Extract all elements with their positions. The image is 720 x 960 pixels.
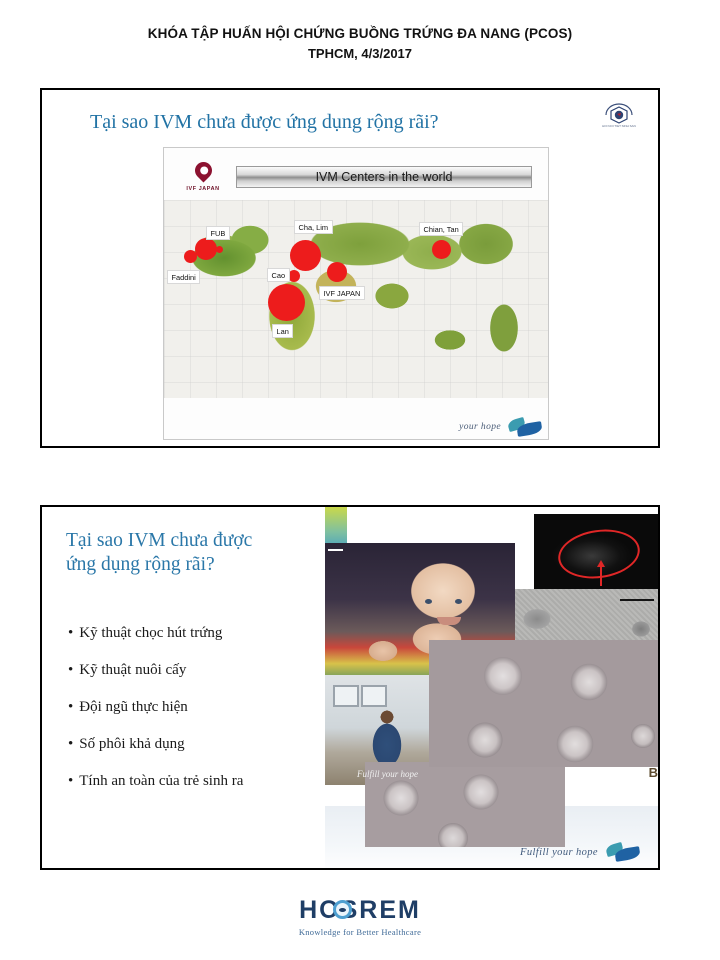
bullet-item: •Kỹ thuật nuôi cấy	[68, 662, 348, 679]
scale-bar-icon	[620, 599, 654, 601]
bullet-item: •Đội ngũ thực hiện	[68, 699, 348, 716]
bullet-label: Tính an toàn của trẻ sinh ra	[79, 773, 243, 789]
map-marker-label: FUB	[206, 226, 230, 240]
embryo-dish-photo	[429, 640, 660, 767]
map-footer: your hope	[459, 419, 542, 435]
bullet-item: •Tính an toàn của trẻ sinh ra	[68, 773, 348, 790]
hosrem-ring-icon	[333, 900, 352, 919]
slide-1-title: Tại sao IVM chưa được ứng dụng rộng rãi?	[90, 110, 439, 134]
bullet-glyph: •	[68, 699, 73, 715]
map-marker-label: Cha, Lim	[294, 220, 333, 234]
panel-label-b: B	[649, 765, 658, 780]
image-collage: C B Fulfill your hope Fulfill your hope	[325, 507, 660, 870]
hexagon-badge-icon: HOI NOI TIET SINH SAN	[602, 102, 636, 128]
slide-2-title-line-2: ứng dụng rộng rãi?	[66, 553, 326, 577]
page-header-subtitle: TPHCM, 4/3/2017	[0, 46, 720, 61]
ivf-japan-logo: IVF JAPAN	[180, 162, 226, 192]
map-marker-label: Faddini	[167, 270, 200, 284]
map-banner-title: IVM Centers in the world	[316, 170, 453, 184]
map-marker-label: Chian, Tan	[419, 222, 463, 236]
map-pin-icon	[191, 158, 215, 182]
page-header-title: KHÓA TẬP HUẤN HỘI CHỨNG BUỒNG TRỨNG ĐA N…	[0, 26, 720, 41]
bullet-label: Đội ngũ thực hiện	[79, 699, 188, 715]
fulfill-your-hope-text: Fulfill your hope	[520, 847, 598, 858]
bullet-item: •Kỹ thuật chọc hút trứng	[68, 625, 348, 642]
bullet-glyph: •	[68, 662, 73, 678]
world-map-image: FUBFaddiniCha, LimCaoIVF JAPANLanChian, …	[164, 200, 549, 398]
collage-footer: Fulfill your hope	[520, 844, 640, 860]
ultrasound-highlight-ellipse	[555, 525, 643, 584]
ovary-ultrasound-image	[534, 514, 660, 596]
slide-2-title: Tại sao IVM chưa được ứng dụng rộng rãi?	[66, 529, 326, 577]
embryo-micrograph	[515, 589, 660, 644]
map-marker-dot	[327, 262, 347, 282]
bullet-label: Kỹ thuật nuôi cấy	[79, 662, 186, 678]
hosrem-logo: HOSREM	[299, 898, 421, 923]
map-marker-label: Lan	[272, 324, 293, 338]
your-hope-text: your hope	[459, 422, 501, 432]
leaf-swoosh-icon	[508, 419, 542, 435]
collage-watermark: Fulfill your hope	[357, 769, 418, 779]
page-header: KHÓA TẬP HUẤN HỘI CHỨNG BUỒNG TRỨNG ĐA N…	[0, 26, 720, 61]
map-marker-label: IVF JAPAN	[319, 286, 365, 300]
map-marker-dot	[216, 246, 223, 253]
page-footer: HOSREM Knowledge for Better Healthcare	[0, 898, 720, 937]
ivm-centers-map-panel: IVF JAPAN IVM Centers in the world FUBFa…	[163, 147, 549, 440]
bullet-glyph: •	[68, 773, 73, 789]
hosrem-logo-text: HOSREM	[299, 896, 421, 924]
bullet-glyph: •	[68, 625, 73, 641]
slide-1: Tại sao IVM chưa được ứng dụng rộng rãi?…	[40, 88, 660, 448]
ultrasound-arrow-icon	[600, 566, 602, 586]
leaf-swoosh-icon	[606, 844, 640, 860]
ivf-japan-caption: IVF JAPAN	[180, 186, 226, 192]
map-marker-dot	[184, 250, 197, 263]
bullet-label: Kỹ thuật chọc hút trứng	[79, 625, 222, 641]
slide-2: Tại sao IVM chưa được ứng dụng rộng rãi?…	[40, 505, 660, 870]
bullet-label: Số phôi khả dụng	[79, 736, 184, 752]
map-marker-dot	[288, 270, 300, 282]
map-marker-dot	[268, 284, 305, 321]
map-marker-dot	[195, 238, 217, 260]
map-marker-dot	[290, 240, 321, 271]
slide-2-bullet-list: •Kỹ thuật chọc hút trứng•Kỹ thuật nuôi c…	[68, 625, 348, 810]
svg-text:HOI NOI TIET SINH SAN: HOI NOI TIET SINH SAN	[602, 124, 636, 128]
bullet-item: •Số phôi khả dụng	[68, 736, 348, 753]
map-marker-dot	[432, 240, 451, 259]
slide-2-title-line-1: Tại sao IVM chưa được	[66, 529, 326, 553]
hosrem-tagline: Knowledge for Better Healthcare	[0, 927, 720, 937]
map-banner: IVM Centers in the world	[236, 166, 532, 188]
map-marker-label: Cao	[267, 268, 290, 282]
bullet-glyph: •	[68, 736, 73, 752]
